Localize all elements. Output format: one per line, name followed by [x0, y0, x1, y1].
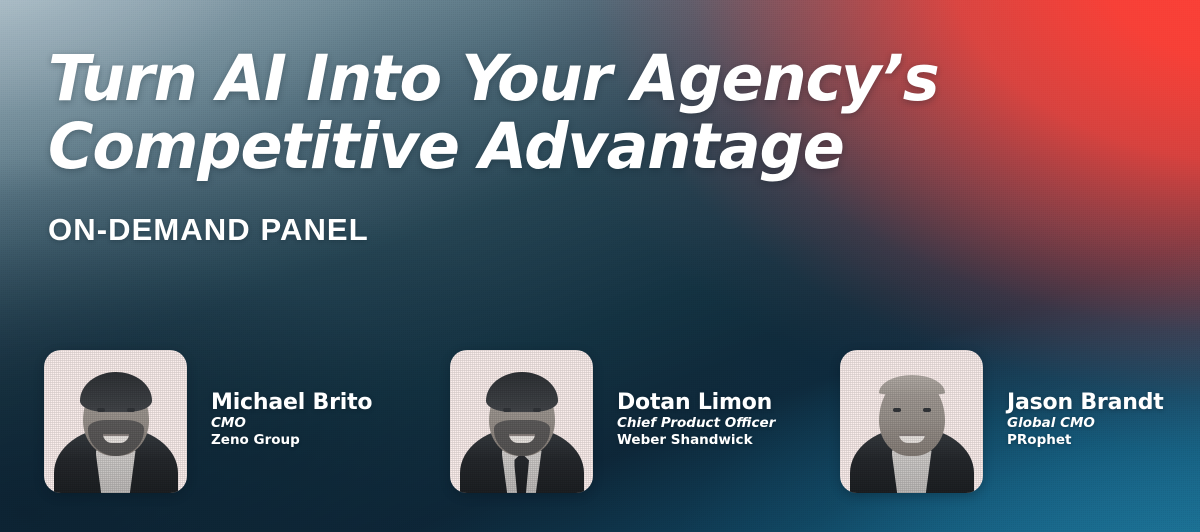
portrait-halftone-texture [44, 350, 187, 493]
speaker-card: Dotan Limon Chief Product Officer Weber … [450, 350, 775, 493]
speaker-org: Weber Shandwick [617, 432, 775, 449]
speaker-name: Jason Brandt [1007, 390, 1164, 415]
avatar [44, 350, 187, 493]
avatar [450, 350, 593, 493]
speaker-details: Jason Brandt Global CMO PRophet [1007, 390, 1164, 453]
speaker-role: Chief Product Officer [617, 415, 775, 432]
headline-line-2: Competitive Advantage [48, 115, 1063, 178]
speaker-details: Dotan Limon Chief Product Officer Weber … [617, 390, 775, 453]
portrait-halftone-texture [840, 350, 983, 493]
speaker-list: Michael Brito CMO Zeno Group [0, 350, 1200, 496]
speaker-name: Dotan Limon [617, 390, 775, 415]
speaker-org: Zeno Group [211, 432, 372, 449]
speaker-name: Michael Brito [211, 390, 372, 415]
speaker-card: Jason Brandt Global CMO PRophet [840, 350, 1164, 493]
promo-banner: Turn AI Into Your Agency’s Competitive A… [0, 0, 1200, 532]
speaker-role: Global CMO [1007, 415, 1164, 432]
avatar [840, 350, 983, 493]
portrait-halftone-texture [450, 350, 593, 493]
speaker-org: PRophet [1007, 432, 1164, 449]
speaker-card: Michael Brito CMO Zeno Group [44, 350, 372, 493]
page-title: Turn AI Into Your Agency’s Competitive A… [48, 47, 1063, 178]
headline-block: Turn AI Into Your Agency’s Competitive A… [48, 47, 1078, 178]
headline-line-1: Turn AI Into Your Agency’s [48, 42, 938, 115]
speaker-role: CMO [211, 415, 372, 432]
speaker-details: Michael Brito CMO Zeno Group [211, 390, 372, 453]
kicker-label: ON-DEMAND PANEL [48, 212, 369, 248]
